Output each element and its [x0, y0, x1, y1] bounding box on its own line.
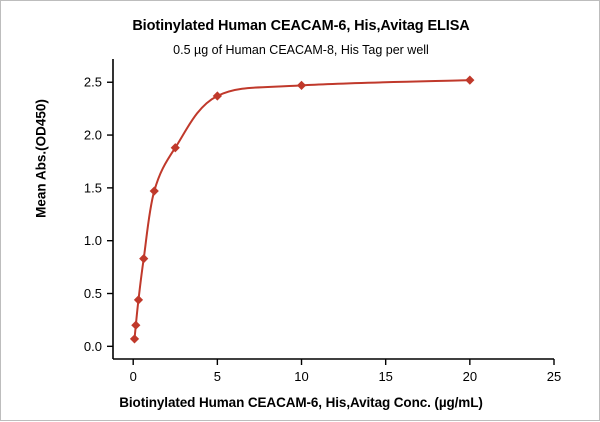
chart-figure: Biotinylated Human CEACAM-6, His,Avitag … [0, 0, 600, 421]
data-point-marker [297, 81, 306, 90]
x-tick-label: 5 [214, 369, 221, 384]
x-tick-label: 15 [378, 369, 392, 384]
data-curve [135, 80, 470, 339]
data-point-marker [139, 254, 148, 263]
data-points [130, 76, 475, 344]
data-point-marker [465, 76, 474, 85]
x-tick-group: 0510152025 [130, 359, 562, 384]
data-point-marker [150, 186, 159, 195]
y-tick-label: 0.0 [84, 339, 102, 354]
data-point-marker [213, 91, 222, 100]
y-tick-label: 1.0 [84, 233, 102, 248]
x-tick-label: 20 [463, 369, 477, 384]
plot-area: 0510152025 0.00.51.01.52.02.5 [1, 1, 600, 422]
axes [113, 59, 554, 359]
y-tick-label: 1.5 [84, 180, 102, 195]
data-point-marker [131, 321, 140, 330]
series-line [135, 80, 470, 339]
y-tick-label: 0.5 [84, 286, 102, 301]
x-tick-label: 10 [294, 369, 308, 384]
y-tick-group: 0.00.51.01.52.02.5 [84, 75, 113, 354]
x-tick-label: 0 [130, 369, 137, 384]
y-tick-label: 2.0 [84, 128, 102, 143]
y-tick-label: 2.5 [84, 75, 102, 90]
data-point-marker [134, 295, 143, 304]
x-tick-label: 25 [547, 369, 561, 384]
data-point-marker [130, 334, 139, 343]
